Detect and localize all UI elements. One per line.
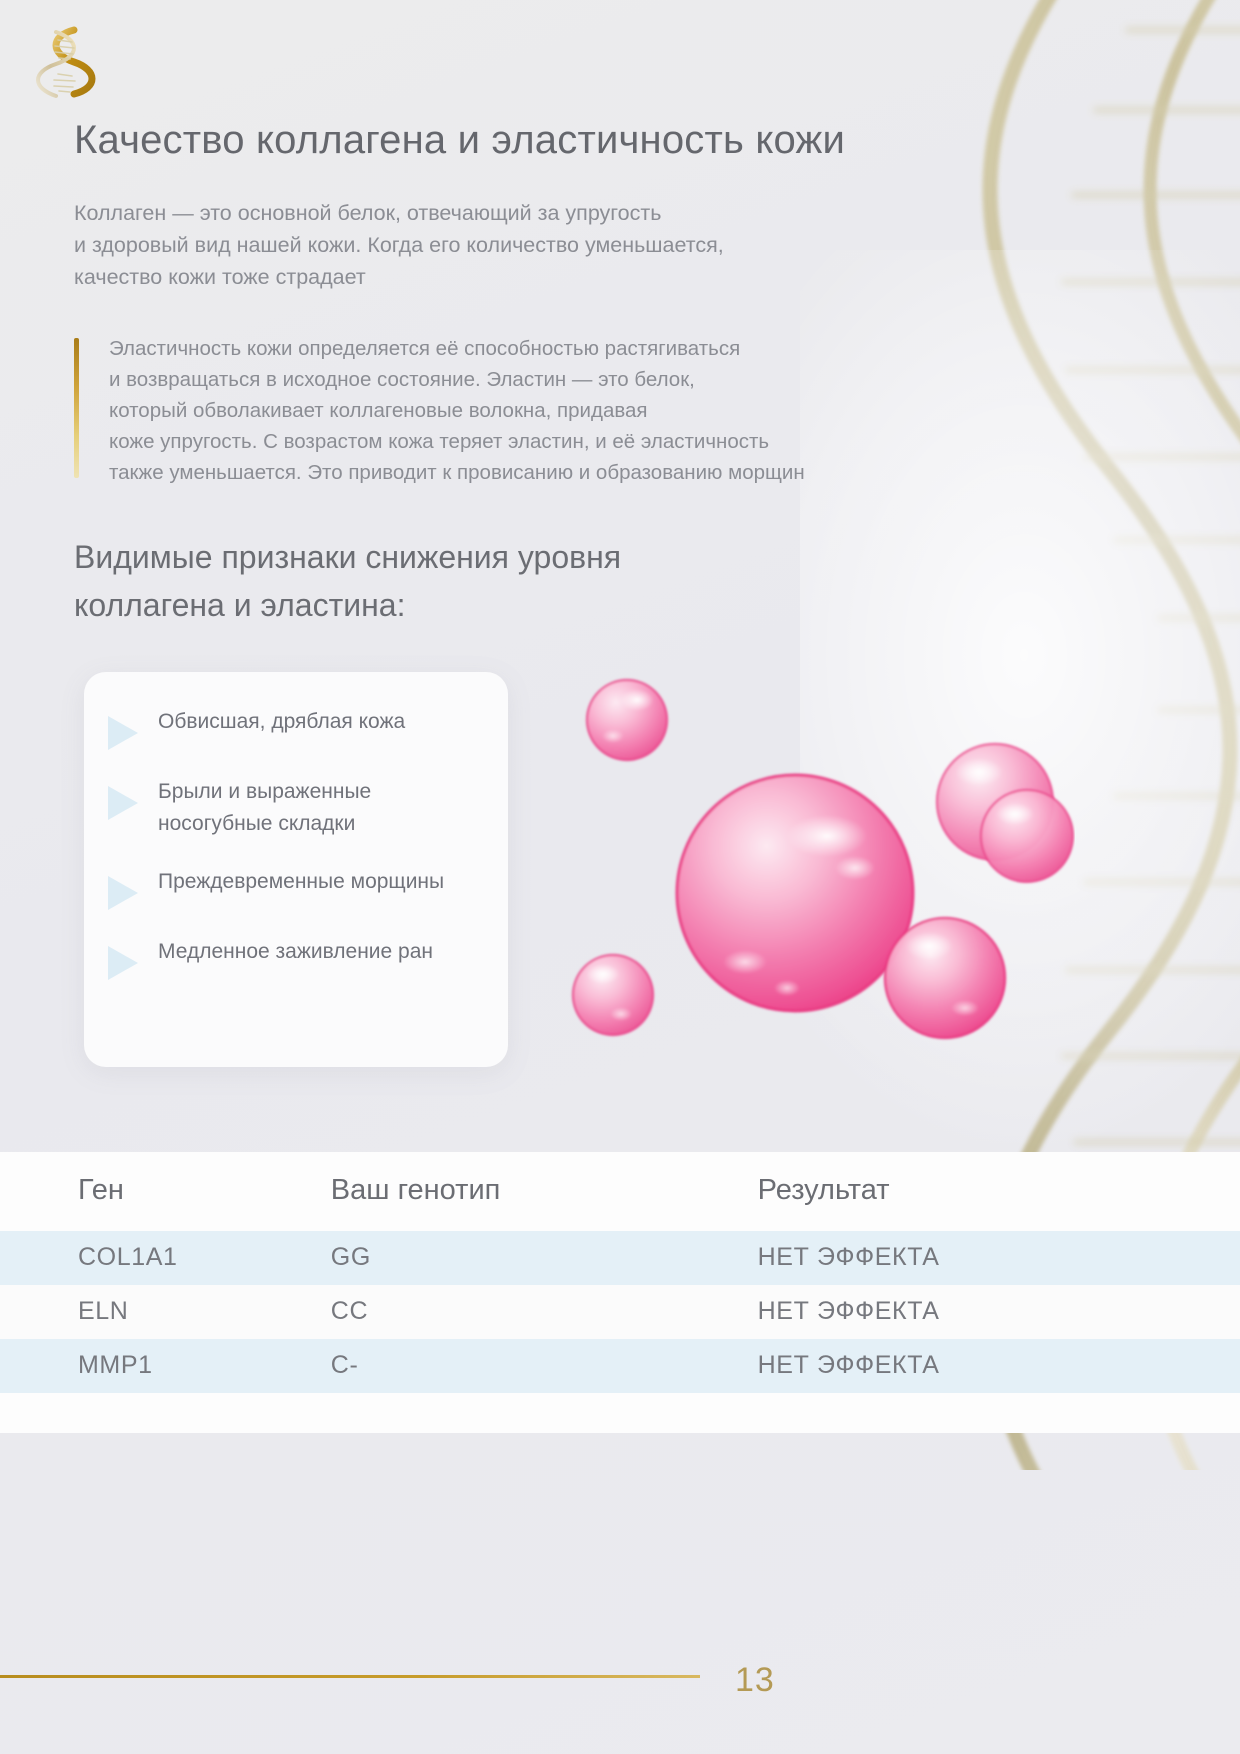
list-item-label: Обвисшая, дряблая кожа — [158, 706, 405, 738]
dna-helix-icon — [34, 22, 104, 102]
list-item: Брыли и выраженные носогубные складки — [108, 776, 480, 840]
intro-line-3: качество кожи тоже страдает — [74, 261, 974, 293]
cell-result: НЕТ ЭФФЕКТА — [758, 1285, 1240, 1339]
table-row: MMP1 C- НЕТ ЭФФЕКТА — [0, 1339, 1240, 1393]
section-heading: Видимые признаки снижения уровня коллаге… — [74, 533, 894, 629]
intro-line-2: и здоровый вид нашей кожи. Когда его кол… — [74, 229, 974, 261]
triangle-right-icon — [108, 716, 138, 750]
table-row: COL1A1 GG НЕТ ЭФФЕКТА — [0, 1231, 1240, 1285]
gene-results-table-container: Ген Ваш генотип Результат COL1A1 GG НЕТ … — [0, 1152, 1240, 1433]
cell-gene: MMP1 — [0, 1339, 331, 1393]
quote-line-4: коже упругость. С возрастом кожа теряет … — [109, 426, 954, 457]
table-header-row: Ген Ваш генотип Результат — [0, 1152, 1240, 1231]
page-footer: 13 — [0, 1544, 1240, 1754]
column-header-genotype: Ваш генотип — [331, 1152, 758, 1231]
cell-genotype: GG — [331, 1231, 758, 1285]
triangle-right-icon — [108, 786, 138, 820]
list-item-label: Преждевременные морщины — [158, 866, 444, 898]
triangle-right-icon — [108, 876, 138, 910]
gene-results-table: Ген Ваш генотип Результат COL1A1 GG НЕТ … — [0, 1152, 1240, 1393]
list-item: Медленное заживление ран — [108, 936, 480, 980]
signs-card: Обвисшая, дряблая кожа Брыли и выраженны… — [84, 672, 508, 1067]
section-heading-line-2: коллагена и эластина: — [74, 587, 405, 623]
cell-genotype: CC — [331, 1285, 758, 1339]
list-item-label: Брыли и выраженные носогубные складки — [158, 776, 480, 840]
footer-rule — [0, 1675, 700, 1678]
cell-gene: COL1A1 — [0, 1231, 331, 1285]
cell-genotype: C- — [331, 1339, 758, 1393]
cell-result: НЕТ ЭФФЕКТА — [758, 1231, 1240, 1285]
document-page: Качество коллагена и эластичность кожи К… — [0, 0, 1240, 1754]
quote-block: Эластичность кожи определяется её способ… — [74, 333, 954, 488]
column-header-result: Результат — [758, 1152, 1240, 1231]
intro-line-1: Коллаген — это основной белок, отвечающи… — [74, 197, 974, 229]
cell-gene: ELN — [0, 1285, 331, 1339]
page-number: 13 — [735, 1661, 775, 1700]
pink-collagen-bubbles-illustration — [555, 640, 1075, 1140]
quote-line-3: который обволакивает коллагеновые волокн… — [109, 395, 954, 426]
section-heading-line-1: Видимые признаки снижения уровня — [74, 539, 621, 575]
quote-text: Эластичность кожи определяется её способ… — [109, 333, 954, 488]
triangle-right-icon — [108, 946, 138, 980]
list-item-label: Медленное заживление ран — [158, 936, 433, 968]
column-header-gene: Ген — [0, 1152, 331, 1231]
quote-line-1: Эластичность кожи определяется её способ… — [109, 333, 954, 364]
quote-line-5: также уменьшается. Это приводит к провис… — [109, 457, 954, 488]
intro-paragraph: Коллаген — это основной белок, отвечающи… — [74, 197, 974, 293]
cell-result: НЕТ ЭФФЕКТА — [758, 1339, 1240, 1393]
page-title: Качество коллагена и эластичность кожи — [74, 118, 845, 163]
list-item: Обвисшая, дряблая кожа — [108, 706, 480, 750]
table-row: ELN CC НЕТ ЭФФЕКТА — [0, 1285, 1240, 1339]
quote-line-2: и возвращаться в исходное состояние. Эла… — [109, 364, 954, 395]
quote-accent-bar — [74, 338, 79, 478]
list-item: Преждевременные морщины — [108, 866, 480, 910]
